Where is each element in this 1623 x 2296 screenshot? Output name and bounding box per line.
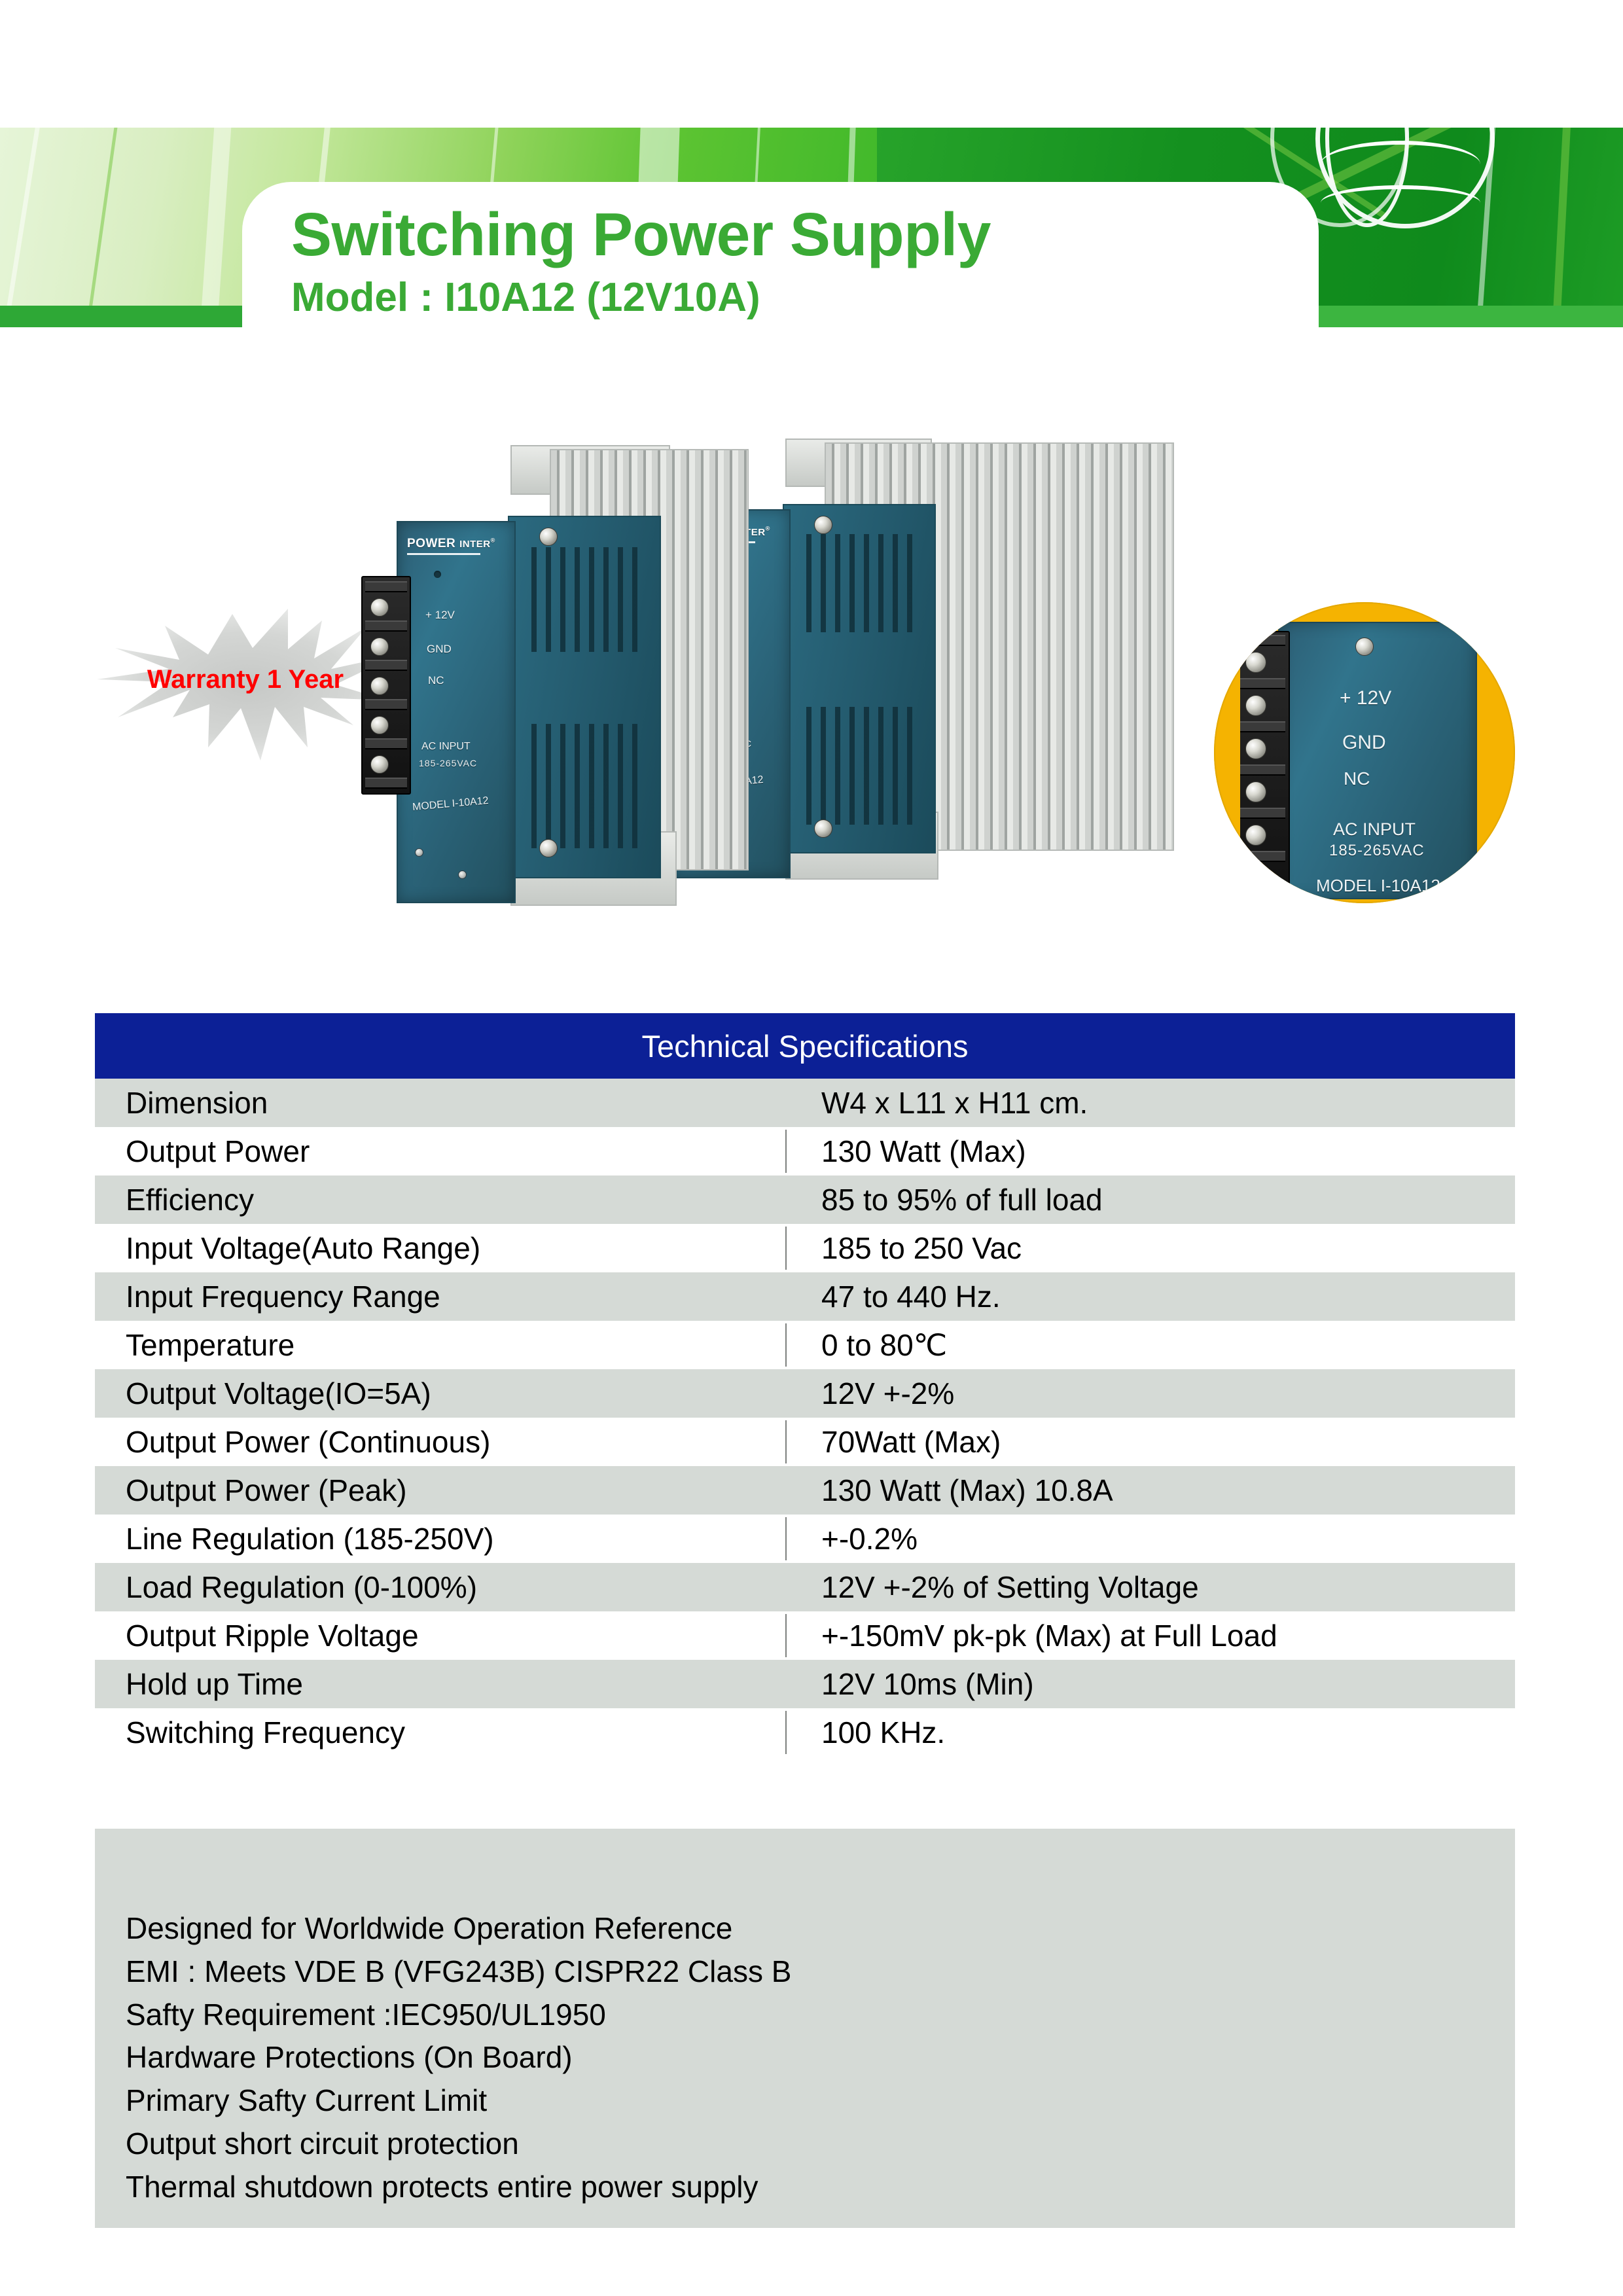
note-line: Primary Safty Current Limit xyxy=(126,2079,1435,2123)
case-screw xyxy=(1355,637,1374,656)
note-line: Output short circuit protection xyxy=(126,2123,1435,2166)
terminal-screw xyxy=(1245,652,1266,673)
spec-value: +-150mV pk-pk (Max) at Full Load xyxy=(785,1618,1515,1653)
terminal-label-gnd: GND xyxy=(1342,732,1386,754)
spec-value: 12V +-2% xyxy=(785,1376,1515,1411)
terminal-screw xyxy=(370,598,389,617)
spec-key: Output Ripple Voltage xyxy=(95,1618,785,1653)
table-row: Output Power (Continuous)70Watt (Max) xyxy=(95,1418,1515,1466)
terminal-screw xyxy=(1245,868,1266,889)
table-row: DimensionW4 x L11 x H11 cm. xyxy=(95,1079,1515,1127)
spec-key: Efficiency xyxy=(95,1182,785,1217)
table-body: DimensionW4 x L11 x H11 cm.Output Power1… xyxy=(95,1079,1515,1757)
terminal-screw xyxy=(1245,738,1266,759)
title-block: Switching Power Supply Model : I10A12 (1… xyxy=(291,203,1338,320)
technical-specifications-table: Technical Specifications DimensionW4 x L… xyxy=(95,1013,1515,1757)
spec-value: 85 to 95% of full load xyxy=(785,1182,1515,1217)
table-row: Hold up Time12V 10ms (Min) xyxy=(95,1660,1515,1708)
module-face-closeup: + 12V GND NC AC INPUT 185-265VAC MODEL I… xyxy=(1278,622,1477,899)
terminal-label-gnd: GND xyxy=(427,643,452,656)
terminal-screw xyxy=(370,677,389,695)
table-row: Output Power (Peak)130 Watt (Max) 10.8A xyxy=(95,1466,1515,1515)
module-model-label: MODEL I-10A12 xyxy=(1316,876,1440,896)
spec-key: Input Voltage(Auto Range) xyxy=(95,1230,785,1266)
table-row: Output Power130 Watt (Max) xyxy=(95,1127,1515,1175)
table-row: Switching Frequency100 KHz. xyxy=(95,1708,1515,1757)
spec-value: 12V +-2% of Setting Voltage xyxy=(785,1570,1515,1605)
case-screw xyxy=(415,848,423,857)
terminal-screw xyxy=(370,755,389,774)
page-title: Switching Power Supply xyxy=(291,203,1338,267)
spec-key: Output Power xyxy=(95,1134,785,1169)
terminal-label-ac-input: AC INPUT xyxy=(421,741,471,753)
spec-key: Output Voltage(IO=5A) xyxy=(95,1376,785,1411)
table-row: Input Frequency Range47 to 440 Hz. xyxy=(95,1272,1515,1321)
spec-key: Output Power (Peak) xyxy=(95,1473,785,1508)
spec-key: Switching Frequency xyxy=(95,1715,785,1750)
table-row: Load Regulation (0-100%)12V +-2% of Sett… xyxy=(95,1563,1515,1611)
vent-slots xyxy=(522,724,647,848)
terminal-screw xyxy=(370,716,389,734)
note-line: EMI : Meets VDE B (VFG243B) CISPR22 Clas… xyxy=(126,1950,1435,1994)
case-screw xyxy=(539,528,558,546)
case-screw xyxy=(814,819,832,838)
terminal-label-nc: NC xyxy=(1344,768,1370,789)
spec-key: Hold up Time xyxy=(95,1666,785,1702)
table-row: Input Voltage(Auto Range)185 to 250 Vac xyxy=(95,1224,1515,1272)
module-model-label: MODEL I-10A12 xyxy=(412,795,489,814)
spec-value: 130 Watt (Max) xyxy=(785,1134,1515,1169)
warranty-label: Warranty 1 Year xyxy=(92,665,399,694)
terminal-screw xyxy=(370,637,389,656)
terminal-block-closeup xyxy=(1240,631,1290,895)
spec-value: 12V 10ms (Min) xyxy=(785,1666,1515,1702)
table-row: Efficiency85 to 95% of full load xyxy=(95,1175,1515,1224)
note-line: Safty Requirement :IEC950/UL1950 xyxy=(126,1994,1435,2037)
notes-list: Designed for Worldwide Operation Referen… xyxy=(126,1907,1435,2208)
case-screw xyxy=(458,870,467,879)
spec-key: Input Frequency Range xyxy=(95,1279,785,1314)
warranty-badge: Warranty 1 Year xyxy=(92,609,399,766)
terminal-block xyxy=(361,576,411,795)
note-line: Thermal shutdown protects entire power s… xyxy=(126,2166,1435,2209)
terminal-label-12v: + 12V xyxy=(425,609,455,622)
spec-value: 70Watt (Max) xyxy=(785,1424,1515,1460)
note-line: Designed for Worldwide Operation Referen… xyxy=(126,1907,1435,1950)
case-screw xyxy=(539,839,558,857)
spec-value: 0 to 80℃ xyxy=(785,1327,1515,1363)
spec-value: 47 to 440 Hz. xyxy=(785,1279,1515,1314)
table-row: Temperature0 to 80℃ xyxy=(95,1321,1515,1369)
spec-key: Dimension xyxy=(95,1085,785,1121)
table-row: Output Ripple Voltage+-150mV pk-pk (Max)… xyxy=(95,1611,1515,1660)
spec-value: 185 to 250 Vac xyxy=(785,1230,1515,1266)
registered-mark: ® xyxy=(491,537,495,544)
terminal-label-12v: + 12V xyxy=(1340,687,1391,709)
spec-value: W4 x L11 x H11 cm. xyxy=(785,1085,1515,1121)
vent-slots xyxy=(522,547,647,652)
vent-slots xyxy=(797,707,921,825)
globe-latitude xyxy=(1321,141,1480,188)
terminal-screw xyxy=(1245,825,1266,846)
terminal-label-nc: NC xyxy=(428,674,444,687)
product-detail-inset: + 12V GND NC AC INPUT 185-265VAC MODEL I… xyxy=(1214,602,1515,903)
brand-logo: POWER INTER® xyxy=(407,537,495,551)
case-screw xyxy=(814,516,832,534)
product-photo: POWER INTER® + 12V GND NC AC INPUT 185-2… xyxy=(419,419,1191,956)
spec-key: Temperature xyxy=(95,1327,785,1363)
spec-key: Load Regulation (0-100%) xyxy=(95,1570,785,1605)
model-label: Model : I10A12 (12V10A) xyxy=(291,275,1338,320)
spec-key: Line Regulation (185-250V) xyxy=(95,1521,785,1556)
spec-key: Output Power (Continuous) xyxy=(95,1424,785,1460)
terminal-label-ac-input: AC INPUT xyxy=(1333,819,1416,840)
notes-block: Designed for Worldwide Operation Referen… xyxy=(95,1829,1515,2228)
logo-underline xyxy=(407,553,480,555)
table-header: Technical Specifications xyxy=(95,1013,1515,1079)
module-face: POWER INTER® + 12V GND NC AC INPUT 185-2… xyxy=(397,521,516,903)
vent-slots xyxy=(797,534,921,632)
terminal-screw xyxy=(1245,781,1266,802)
globe-latitude xyxy=(1321,185,1480,221)
spec-value: +-0.2% xyxy=(785,1521,1515,1556)
spec-value: 100 KHz. xyxy=(785,1715,1515,1750)
terminal-screw xyxy=(1245,695,1266,716)
note-line: Hardware Protections (On Board) xyxy=(126,2036,1435,2079)
terminal-label-ac-range: 185-265VAC xyxy=(419,758,477,768)
registered-mark: ® xyxy=(766,526,770,532)
inset-photo: + 12V GND NC AC INPUT 185-265VAC MODEL I… xyxy=(1240,602,1515,903)
table-row: Output Voltage(IO=5A)12V +-2% xyxy=(95,1369,1515,1418)
terminal-label-ac-range: 185-265VAC xyxy=(1329,842,1425,860)
led-indicator xyxy=(434,571,441,578)
table-row: Line Regulation (185-250V)+-0.2% xyxy=(95,1515,1515,1563)
spec-value: 130 Watt (Max) 10.8A xyxy=(785,1473,1515,1508)
